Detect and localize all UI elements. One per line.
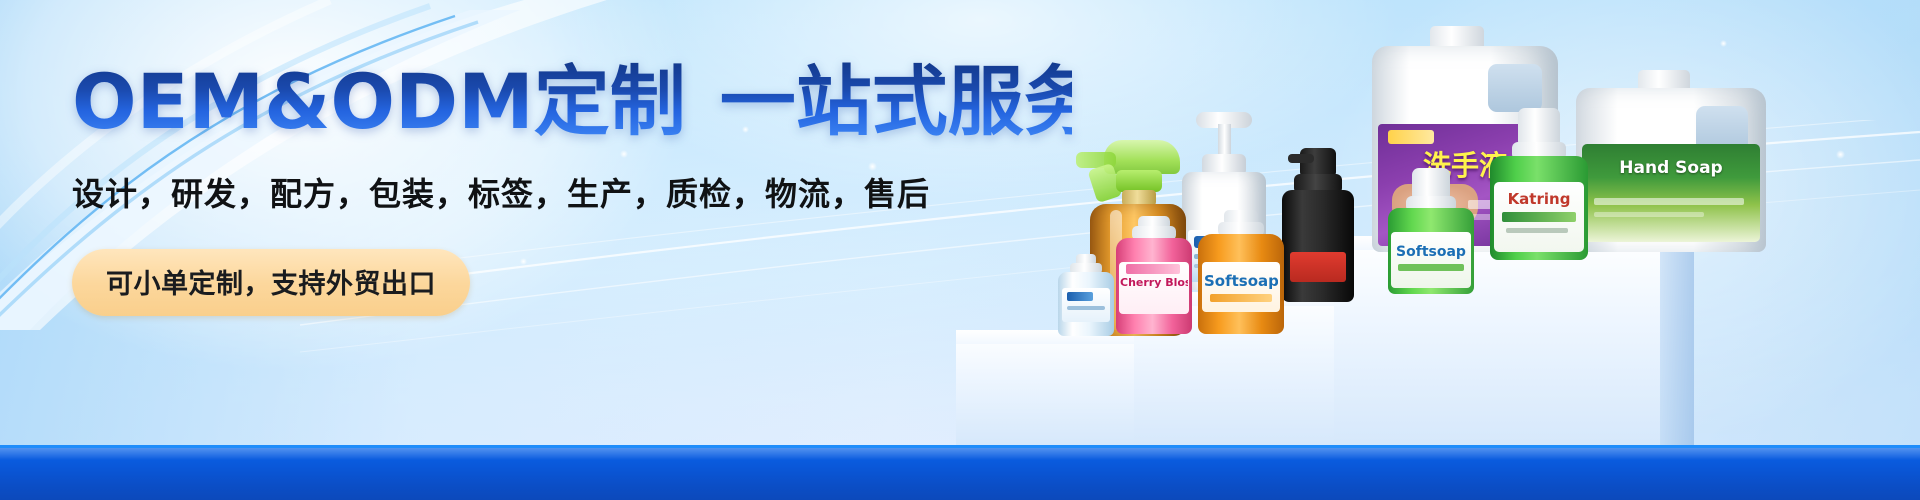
product-pump-bottle-black [1282,148,1354,302]
banner-subtitle: 设计，研发，配方，包装，标签，生产，质检，物流，售后 [72,169,1072,215]
product-bottle-green-softsoap: Softsoap [1388,168,1474,294]
banner-copy: OEM&ODM定制一站式服务 设计，研发，配方，包装，标签，生产，质检，物流，售… [72,62,1072,316]
promo-banner: Hand Soap 洗手液 Katring [0,0,1920,500]
product-label-text: Hand Soap [1586,158,1756,178]
footer-bar [0,445,1920,500]
product-bottle-green-katring: Katring [1490,108,1588,260]
product-label-text: Cherry Blossom [1120,276,1188,289]
headline-main-text: OEM&ODM定制 [72,57,686,146]
footer-bar-sheen [0,448,1920,460]
banner-headline: OEM&ODM定制一站式服务 [72,62,1072,141]
product-label-text: Softsoap [1393,244,1469,260]
product-label-text: Katring [1497,190,1581,208]
product-jug-white-handsoap: Hand Soap [1576,70,1766,252]
product-bottle-orange-softsoap: Softsoap [1198,210,1284,334]
banner-badge: 可小单定制，支持外贸出口 [72,249,470,316]
product-label-text: Softsoap [1204,272,1278,290]
headline-sub-text: 一站式服务 [720,57,1100,146]
product-bottle-pink-cherry: Cherry Blossom [1116,216,1192,334]
